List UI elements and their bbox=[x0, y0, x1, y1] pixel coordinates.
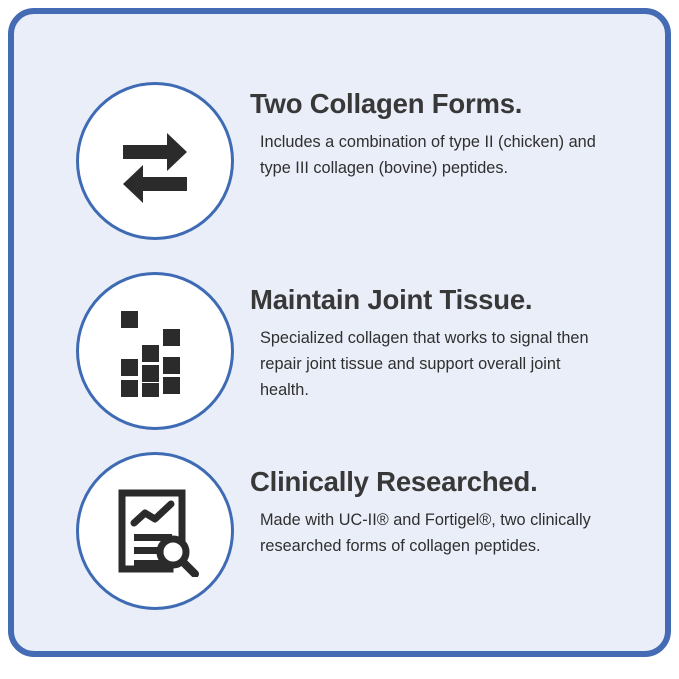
feature-title: Clinically Researched. bbox=[250, 466, 650, 498]
feature-list: Two Collagen Forms. Includes a combinati… bbox=[14, 14, 665, 651]
feature-description: Includes a combination of type II (chick… bbox=[250, 120, 600, 182]
feature-title: Maintain Joint Tissue. bbox=[250, 284, 650, 316]
document-magnifier-icon bbox=[109, 485, 201, 577]
document-magnifier-icon-badge bbox=[76, 452, 234, 610]
feature-text-block: Maintain Joint Tissue. Specialized colla… bbox=[250, 284, 650, 404]
feature-text-block: Clinically Researched. Made with UC-II® … bbox=[250, 466, 650, 559]
two-way-arrows-icon bbox=[109, 115, 201, 207]
feature-title: Two Collagen Forms. bbox=[250, 88, 650, 120]
feature-item-clinically-researched: Clinically Researched. Made with UC-II® … bbox=[14, 452, 665, 632]
feature-description: Specialized collagen that works to signa… bbox=[250, 316, 600, 404]
feature-card-panel: Two Collagen Forms. Includes a combinati… bbox=[8, 8, 671, 657]
feature-text-block: Two Collagen Forms. Includes a combinati… bbox=[250, 88, 650, 181]
feature-description: Made with UC-II® and Fortigel®, two clin… bbox=[250, 498, 600, 560]
dot-matrix-icon bbox=[109, 305, 201, 397]
feature-item-maintain-joint-tissue: Maintain Joint Tissue. Specialized colla… bbox=[14, 272, 665, 452]
feature-item-two-collagen-forms: Two Collagen Forms. Includes a combinati… bbox=[14, 82, 665, 262]
two-way-arrows-icon-badge bbox=[76, 82, 234, 240]
dot-matrix-icon-badge bbox=[76, 272, 234, 430]
